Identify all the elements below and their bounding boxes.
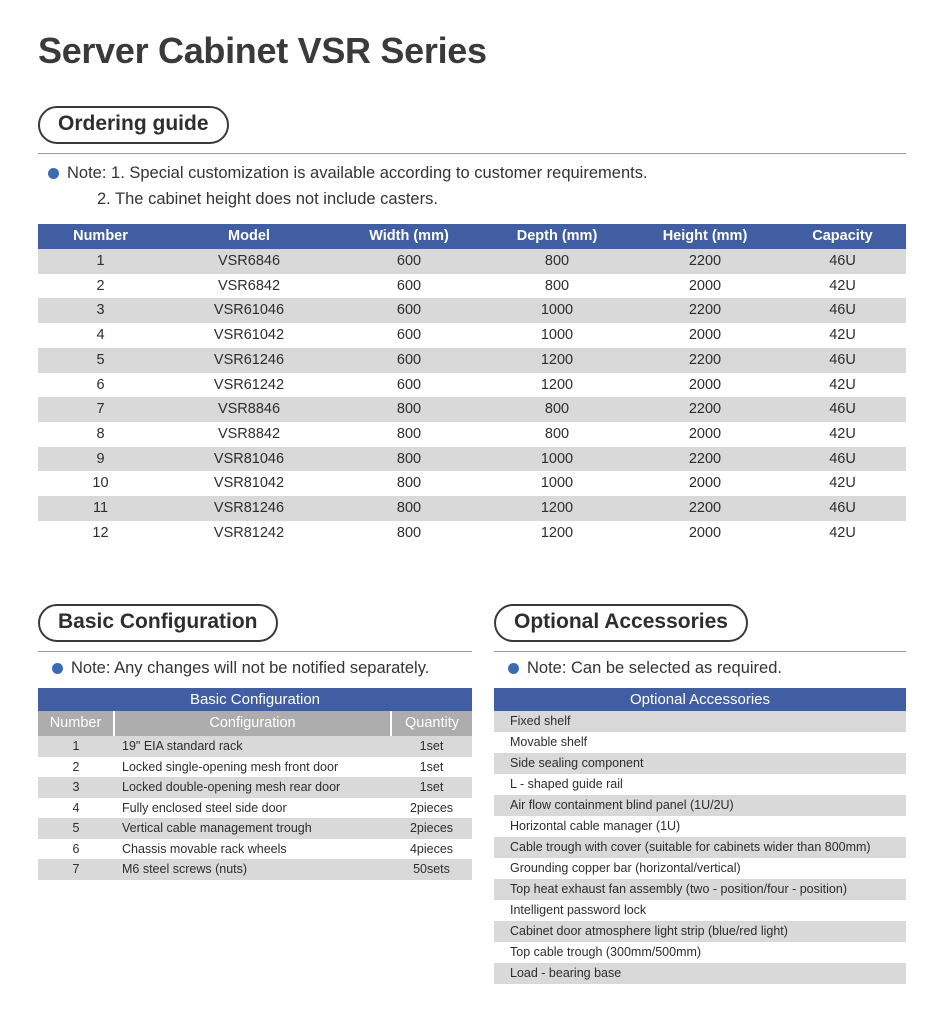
- ordering-guide-label: Ordering guide: [38, 106, 229, 144]
- table-cell-height: 2200: [631, 298, 779, 323]
- table-cell-capacity: 46U: [779, 249, 906, 274]
- table-row: 3VSR610466001000220046U: [38, 298, 906, 323]
- table-cell-number: 2: [38, 274, 163, 299]
- page-title: Server Cabinet VSR Series: [38, 30, 487, 72]
- table-cell-configuration: M6 steel screws (nuts): [114, 859, 391, 880]
- table-cell-depth: 1200: [483, 348, 631, 373]
- table-cell-number: 5: [38, 348, 163, 373]
- list-item: Load - bearing base: [494, 963, 906, 984]
- list-item: Cable trough with cover (suitable for ca…: [494, 837, 906, 858]
- table-cell-height: 2000: [631, 323, 779, 348]
- note-basic: Note: Any changes will not be notified s…: [52, 656, 429, 682]
- col-header-number: Number: [38, 711, 114, 736]
- ordering-table-body: 1VSR6846600800220046U2VSR684260080020004…: [38, 249, 906, 545]
- optional-accessories-table: Optional Accessories Fixed shelfMovable …: [494, 688, 906, 984]
- col-header-depth: Depth (mm): [483, 224, 631, 249]
- ordering-table-header-row: Number Model Width (mm) Depth (mm) Heigh…: [38, 224, 906, 249]
- table-cell-height: 2000: [631, 274, 779, 299]
- table-row: 10VSR810428001000200042U: [38, 471, 906, 496]
- optional-accessories-label: Optional Accessories: [494, 604, 748, 642]
- table-cell-quantity: 1set: [391, 777, 472, 798]
- basic-table-title: Basic Configuration: [38, 688, 472, 711]
- table-cell-number: 2: [38, 757, 114, 778]
- accessory-name: Top heat exhaust fan assembly (two - pos…: [494, 879, 906, 900]
- table-cell-depth: 1000: [483, 447, 631, 472]
- table-row: 8VSR8842800800200042U: [38, 422, 906, 447]
- table-cell-model: VSR81046: [163, 447, 335, 472]
- table-cell-width: 600: [335, 298, 483, 323]
- note-ordering: Note: 1. Special customization is availa…: [48, 161, 648, 212]
- divider-optional: [494, 651, 906, 652]
- list-item: Top cable trough (300mm/500mm): [494, 942, 906, 963]
- table-cell-model: VSR61042: [163, 323, 335, 348]
- table-cell-number: 1: [38, 249, 163, 274]
- table-cell-width: 800: [335, 422, 483, 447]
- list-item: Intelligent password lock: [494, 900, 906, 921]
- table-cell-height: 2000: [631, 471, 779, 496]
- table-row: 119" EIA standard rack1set: [38, 736, 472, 757]
- note-ordering-line1: 1. Special customization is available ac…: [111, 164, 648, 182]
- basic-table-title-row: Basic Configuration: [38, 688, 472, 711]
- table-cell-configuration: Chassis movable rack wheels: [114, 839, 391, 860]
- col-header-configuration: Configuration: [114, 711, 391, 736]
- accessory-name: Grounding copper bar (horizontal/vertica…: [494, 858, 906, 879]
- table-cell-number: 3: [38, 777, 114, 798]
- table-cell-depth: 1000: [483, 471, 631, 496]
- table-row: 7M6 steel screws (nuts)50sets: [38, 859, 472, 880]
- optional-table-body: Fixed shelfMovable shelfSide sealing com…: [494, 711, 906, 984]
- table-cell-height: 2200: [631, 348, 779, 373]
- table-cell-model: VSR81042: [163, 471, 335, 496]
- note-ordering-label: Note:: [67, 164, 106, 182]
- note-basic-text: Note: Any changes will not be notified s…: [71, 656, 429, 682]
- table-cell-width: 800: [335, 496, 483, 521]
- accessory-name: Air flow containment blind panel (1U/2U): [494, 795, 906, 816]
- divider-basic: [38, 651, 472, 652]
- table-cell-capacity: 46U: [779, 447, 906, 472]
- table-cell-width: 600: [335, 373, 483, 398]
- basic-table-body: 119" EIA standard rack1set2Locked single…: [38, 736, 472, 880]
- table-cell-configuration: 19" EIA standard rack: [114, 736, 391, 757]
- accessory-name: Cabinet door atmosphere light strip (blu…: [494, 921, 906, 942]
- bullet-icon: [52, 663, 63, 674]
- accessory-name: Fixed shelf: [494, 711, 906, 732]
- table-cell-capacity: 46U: [779, 496, 906, 521]
- list-item: Movable shelf: [494, 732, 906, 753]
- table-cell-depth: 1200: [483, 373, 631, 398]
- table-cell-number: 7: [38, 397, 163, 422]
- datasheet-page: Server Cabinet VSR Series Ordering guide…: [0, 0, 938, 1026]
- table-cell-capacity: 42U: [779, 373, 906, 398]
- bullet-icon: [48, 168, 59, 179]
- table-row: 2VSR6842600800200042U: [38, 274, 906, 299]
- table-row: 6VSR612426001200200042U: [38, 373, 906, 398]
- list-item: Top heat exhaust fan assembly (two - pos…: [494, 879, 906, 900]
- accessory-name: Movable shelf: [494, 732, 906, 753]
- basic-configuration-label: Basic Configuration: [38, 604, 278, 642]
- table-cell-number: 11: [38, 496, 163, 521]
- table-cell-width: 800: [335, 521, 483, 546]
- table-cell-capacity: 46U: [779, 397, 906, 422]
- table-cell-number: 10: [38, 471, 163, 496]
- table-cell-width: 800: [335, 471, 483, 496]
- table-cell-quantity: 4pieces: [391, 839, 472, 860]
- table-cell-model: VSR81246: [163, 496, 335, 521]
- table-cell-model: VSR8846: [163, 397, 335, 422]
- table-cell-height: 2200: [631, 496, 779, 521]
- table-row: 12VSR812428001200200042U: [38, 521, 906, 546]
- ordering-table: Number Model Width (mm) Depth (mm) Heigh…: [38, 224, 906, 545]
- table-cell-model: VSR61046: [163, 298, 335, 323]
- section-badge-basic-configuration: Basic Configuration: [38, 604, 278, 642]
- table-cell-width: 600: [335, 348, 483, 373]
- table-cell-model: VSR81242: [163, 521, 335, 546]
- list-item: L - shaped guide rail: [494, 774, 906, 795]
- table-cell-number: 6: [38, 373, 163, 398]
- list-item: Horizontal cable manager (1U): [494, 816, 906, 837]
- table-cell-number: 8: [38, 422, 163, 447]
- table-cell-height: 2200: [631, 249, 779, 274]
- table-cell-number: 12: [38, 521, 163, 546]
- table-cell-depth: 800: [483, 249, 631, 274]
- table-cell-capacity: 42U: [779, 323, 906, 348]
- table-cell-height: 2200: [631, 447, 779, 472]
- table-cell-capacity: 42U: [779, 422, 906, 447]
- table-cell-depth: 1200: [483, 496, 631, 521]
- table-cell-capacity: 42U: [779, 274, 906, 299]
- table-row: 9VSR810468001000220046U: [38, 447, 906, 472]
- accessory-name: Horizontal cable manager (1U): [494, 816, 906, 837]
- note-optional: Note: Can be selected as required.: [508, 656, 782, 682]
- table-cell-model: VSR6846: [163, 249, 335, 274]
- table-cell-model: VSR6842: [163, 274, 335, 299]
- table-cell-configuration: Fully enclosed steel side door: [114, 798, 391, 819]
- table-cell-quantity: 1set: [391, 757, 472, 778]
- table-cell-configuration: Vertical cable management trough: [114, 818, 391, 839]
- table-cell-height: 2000: [631, 373, 779, 398]
- table-cell-number: 4: [38, 798, 114, 819]
- table-row: 3Locked double-opening mesh rear door1se…: [38, 777, 472, 798]
- col-header-capacity: Capacity: [779, 224, 906, 249]
- table-cell-capacity: 46U: [779, 348, 906, 373]
- table-cell-model: VSR8842: [163, 422, 335, 447]
- section-badge-optional-accessories: Optional Accessories: [494, 604, 748, 642]
- section-badge-ordering-guide: Ordering guide: [38, 106, 229, 144]
- table-row: 5VSR612466001200220046U: [38, 348, 906, 373]
- list-item: Air flow containment blind panel (1U/2U): [494, 795, 906, 816]
- basic-configuration-table: Basic Configuration Number Configuration…: [38, 688, 472, 880]
- table-cell-quantity: 2pieces: [391, 818, 472, 839]
- optional-table-title-row: Optional Accessories: [494, 688, 906, 711]
- col-header-quantity: Quantity: [391, 711, 472, 736]
- table-cell-height: 2000: [631, 521, 779, 546]
- table-cell-depth: 800: [483, 274, 631, 299]
- table-cell-number: 5: [38, 818, 114, 839]
- table-cell-number: 4: [38, 323, 163, 348]
- table-cell-depth: 1200: [483, 521, 631, 546]
- table-row: 5Vertical cable management trough2pieces: [38, 818, 472, 839]
- table-cell-width: 800: [335, 447, 483, 472]
- table-cell-quantity: 2pieces: [391, 798, 472, 819]
- table-row: 7VSR8846800800220046U: [38, 397, 906, 422]
- col-header-model: Model: [163, 224, 335, 249]
- table-cell-depth: 800: [483, 397, 631, 422]
- list-item: Side sealing component: [494, 753, 906, 774]
- table-cell-number: 9: [38, 447, 163, 472]
- accessory-name: Load - bearing base: [494, 963, 906, 984]
- table-cell-height: 2200: [631, 397, 779, 422]
- table-cell-number: 1: [38, 736, 114, 757]
- table-cell-quantity: 1set: [391, 736, 472, 757]
- table-cell-model: VSR61242: [163, 373, 335, 398]
- col-header-height: Height (mm): [631, 224, 779, 249]
- table-cell-model: VSR61246: [163, 348, 335, 373]
- table-cell-configuration: Locked single-opening mesh front door: [114, 757, 391, 778]
- note-ordering-line2: 2. The cabinet height does not include c…: [97, 187, 648, 213]
- optional-table-title: Optional Accessories: [494, 688, 906, 711]
- table-cell-height: 2000: [631, 422, 779, 447]
- table-cell-number: 6: [38, 839, 114, 860]
- table-cell-capacity: 42U: [779, 521, 906, 546]
- col-header-width: Width (mm): [335, 224, 483, 249]
- list-item: Grounding copper bar (horizontal/vertica…: [494, 858, 906, 879]
- table-cell-configuration: Locked double-opening mesh rear door: [114, 777, 391, 798]
- divider-ordering: [38, 153, 906, 154]
- accessory-name: Intelligent password lock: [494, 900, 906, 921]
- table-row: 11VSR812468001200220046U: [38, 496, 906, 521]
- note-optional-text: Note: Can be selected as required.: [527, 656, 782, 682]
- accessory-name: Top cable trough (300mm/500mm): [494, 942, 906, 963]
- list-item: Cabinet door atmosphere light strip (blu…: [494, 921, 906, 942]
- table-cell-depth: 1000: [483, 298, 631, 323]
- table-cell-width: 800: [335, 397, 483, 422]
- table-cell-width: 600: [335, 323, 483, 348]
- bullet-icon: [508, 663, 519, 674]
- accessory-name: Side sealing component: [494, 753, 906, 774]
- list-item: Fixed shelf: [494, 711, 906, 732]
- table-row: 4VSR610426001000200042U: [38, 323, 906, 348]
- table-cell-number: 7: [38, 859, 114, 880]
- table-cell-quantity: 50sets: [391, 859, 472, 880]
- table-cell-number: 3: [38, 298, 163, 323]
- table-row: 1VSR6846600800220046U: [38, 249, 906, 274]
- table-row: 2Locked single-opening mesh front door1s…: [38, 757, 472, 778]
- table-cell-depth: 800: [483, 422, 631, 447]
- basic-table-header-row: Number Configuration Quantity: [38, 711, 472, 736]
- table-cell-width: 600: [335, 274, 483, 299]
- table-cell-depth: 1000: [483, 323, 631, 348]
- col-header-number: Number: [38, 224, 163, 249]
- accessory-name: L - shaped guide rail: [494, 774, 906, 795]
- table-row: 4Fully enclosed steel side door2pieces: [38, 798, 472, 819]
- table-cell-width: 600: [335, 249, 483, 274]
- table-cell-capacity: 46U: [779, 298, 906, 323]
- table-row: 6Chassis movable rack wheels4pieces: [38, 839, 472, 860]
- table-cell-capacity: 42U: [779, 471, 906, 496]
- accessory-name: Cable trough with cover (suitable for ca…: [494, 837, 906, 858]
